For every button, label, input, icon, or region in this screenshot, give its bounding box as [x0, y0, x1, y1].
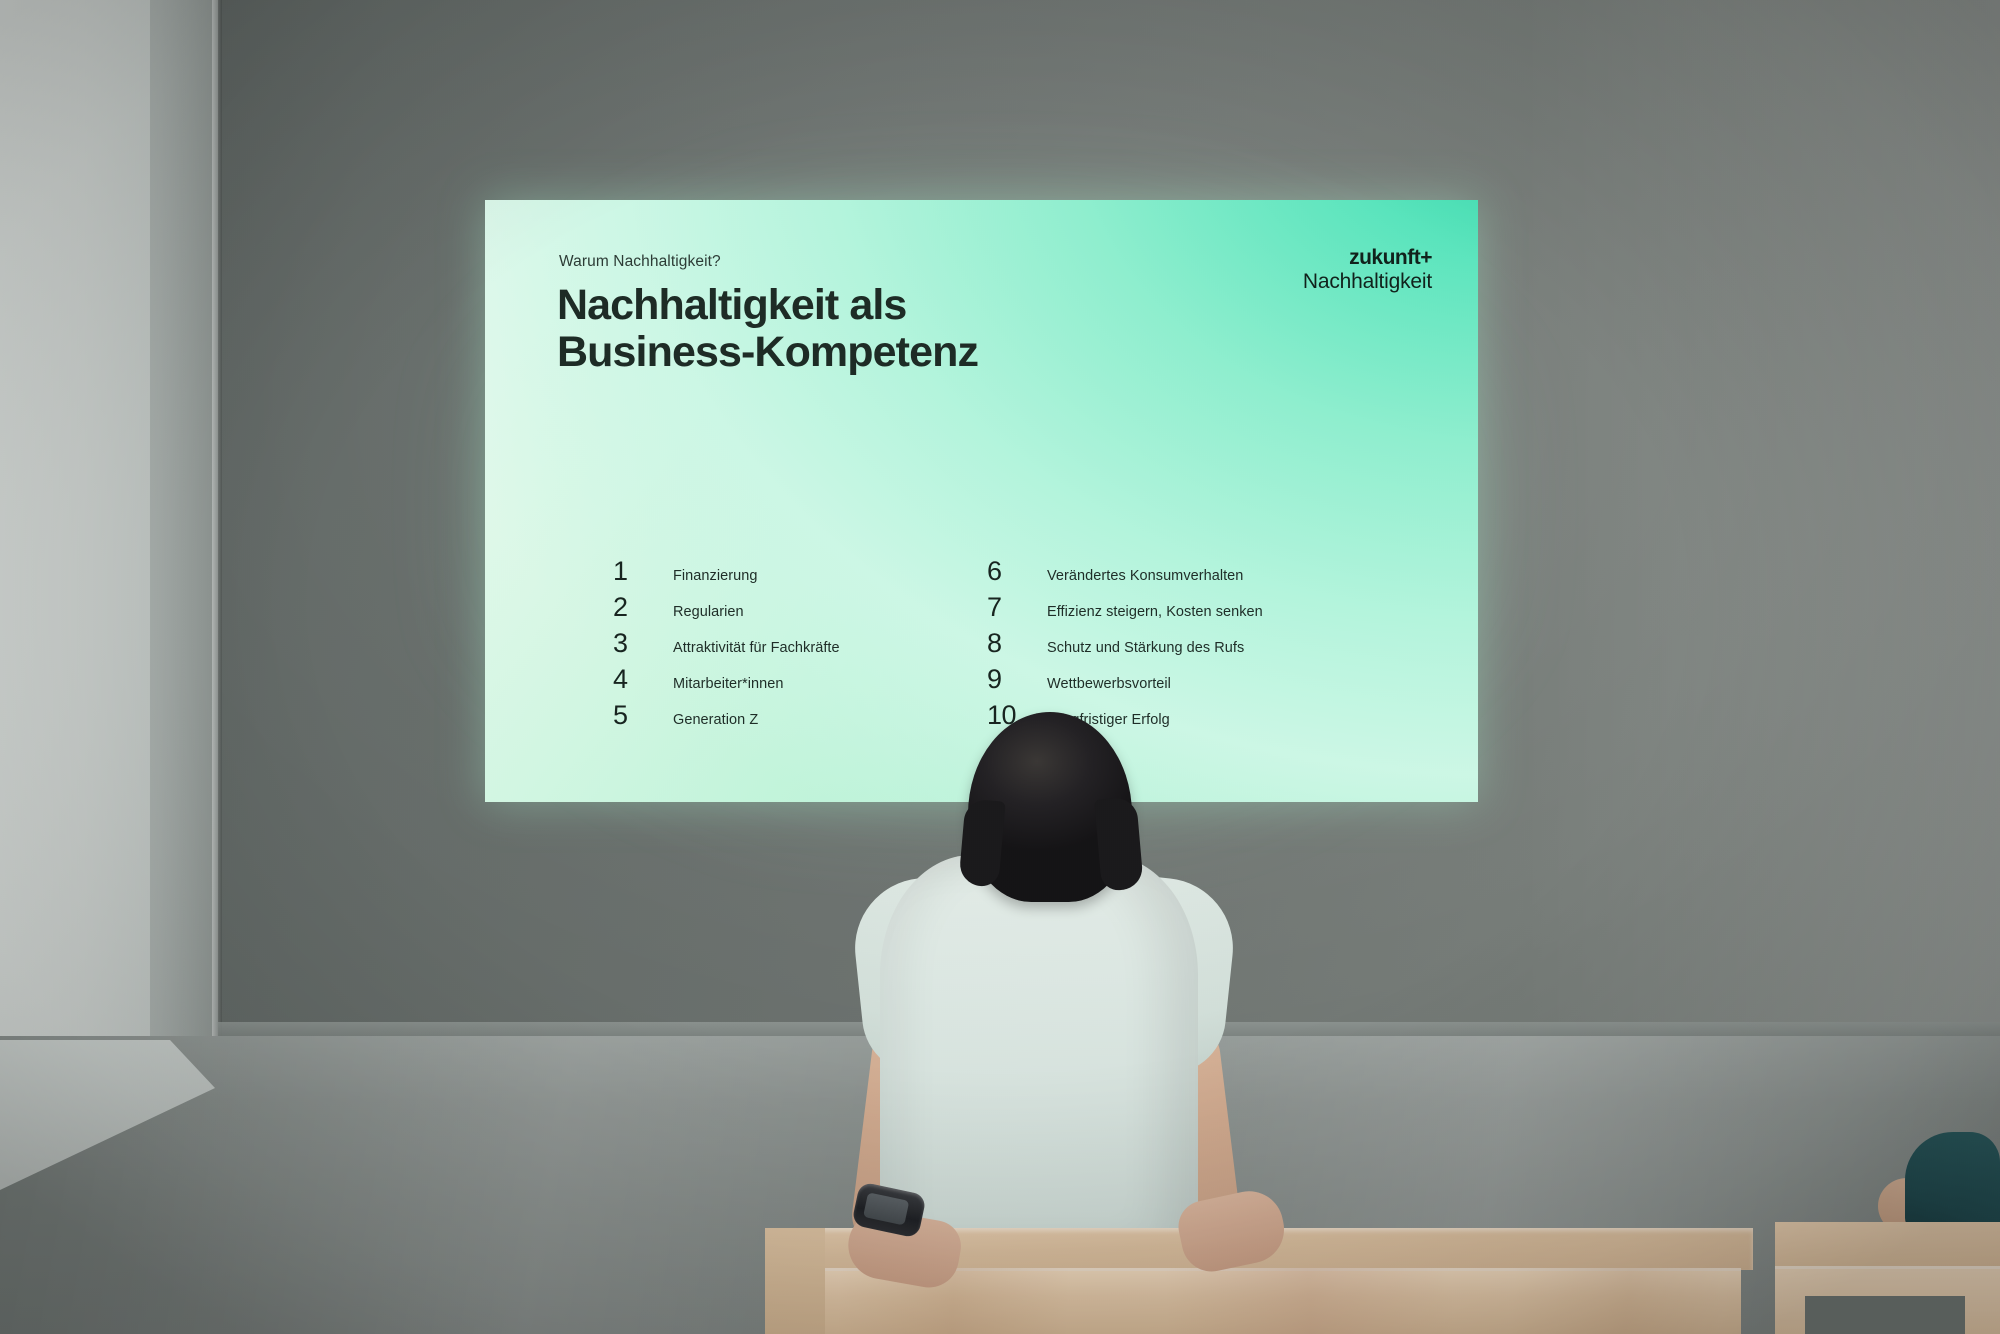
- list-item: 10Langfristiger Erfolg: [987, 702, 1387, 729]
- second-person-leg: [1905, 1132, 2000, 1232]
- list-item-number: 1: [613, 558, 673, 585]
- second-bench-seat-top: [1775, 1222, 2000, 1268]
- wristwatch-face: [863, 1192, 909, 1225]
- brand-logo-primary: zukunft+: [1303, 246, 1432, 270]
- list-item-label: Mitarbeiter*innen: [673, 677, 783, 692]
- list-item-label: Regularien: [673, 605, 744, 620]
- list-item: 7Effizienz steigern, Kosten senken: [987, 594, 1387, 621]
- slide-list-container: 1Finanzierung2Regularien3Attraktivität f…: [485, 558, 1478, 729]
- list-item-label: Schutz und Stärkung des Rufs: [1047, 641, 1244, 656]
- list-item-number: 7: [987, 594, 1047, 621]
- slide-headline: Nachhaltigkeit als Business-Kompetenz: [557, 282, 978, 376]
- list-item: 6Verändertes Konsumverhalten: [987, 558, 1387, 585]
- slide-list-right: 6Verändertes Konsumverhalten7Effizienz s…: [987, 558, 1387, 729]
- list-item-label: Verändertes Konsumverhalten: [1047, 569, 1243, 584]
- projected-slide: Warum Nachhaltigkeit? Nachhaltigkeit als…: [485, 200, 1478, 802]
- brand-logo-secondary: Nachhaltigkeit: [1303, 270, 1432, 294]
- list-item: 5Generation Z: [613, 702, 965, 729]
- bench-end-panel: [765, 1228, 825, 1334]
- list-item-label: Attraktivität für Fachkräfte: [673, 641, 840, 656]
- list-item-number: 3: [613, 630, 673, 657]
- second-bench: [1775, 1222, 2000, 1334]
- list-item-number: 10: [987, 702, 1047, 729]
- slide-content: Warum Nachhaltigkeit? Nachhaltigkeit als…: [485, 200, 1478, 802]
- slide-list-left: 1Finanzierung2Regularien3Attraktivität f…: [613, 558, 965, 729]
- wall-corner-edge: [212, 0, 222, 1080]
- left-wall-highlight: [0, 0, 150, 1160]
- second-bench-opening: [1805, 1296, 1965, 1334]
- list-item-number: 9: [987, 666, 1047, 693]
- room-scene: Warum Nachhaltigkeit? Nachhaltigkeit als…: [0, 0, 2000, 1334]
- back-wall-highlight: [1520, 0, 2000, 1080]
- list-item-number: 5: [613, 702, 673, 729]
- list-item-label: Wettbewerbsvorteil: [1047, 677, 1171, 692]
- list-item-label: Generation Z: [673, 713, 758, 728]
- list-item-number: 2: [613, 594, 673, 621]
- list-item-label: Effizienz steigern, Kosten senken: [1047, 605, 1263, 620]
- list-item: 9Wettbewerbsvorteil: [987, 666, 1387, 693]
- list-item: 2Regularien: [613, 594, 965, 621]
- list-item-label: Langfristiger Erfolg: [1047, 713, 1170, 728]
- list-item: 8Schutz und Stärkung des Rufs: [987, 630, 1387, 657]
- slide-eyebrow: Warum Nachhaltigkeit?: [559, 253, 721, 271]
- list-item-number: 6: [987, 558, 1047, 585]
- list-item-number: 4: [613, 666, 673, 693]
- list-item: 4Mitarbeiter*innen: [613, 666, 965, 693]
- list-item-label: Finanzierung: [673, 569, 757, 584]
- brand-logo: zukunft+ Nachhaltigkeit: [1303, 246, 1432, 295]
- list-item-number: 8: [987, 630, 1047, 657]
- list-item: 1Finanzierung: [613, 558, 965, 585]
- list-item: 3Attraktivität für Fachkräfte: [613, 630, 965, 657]
